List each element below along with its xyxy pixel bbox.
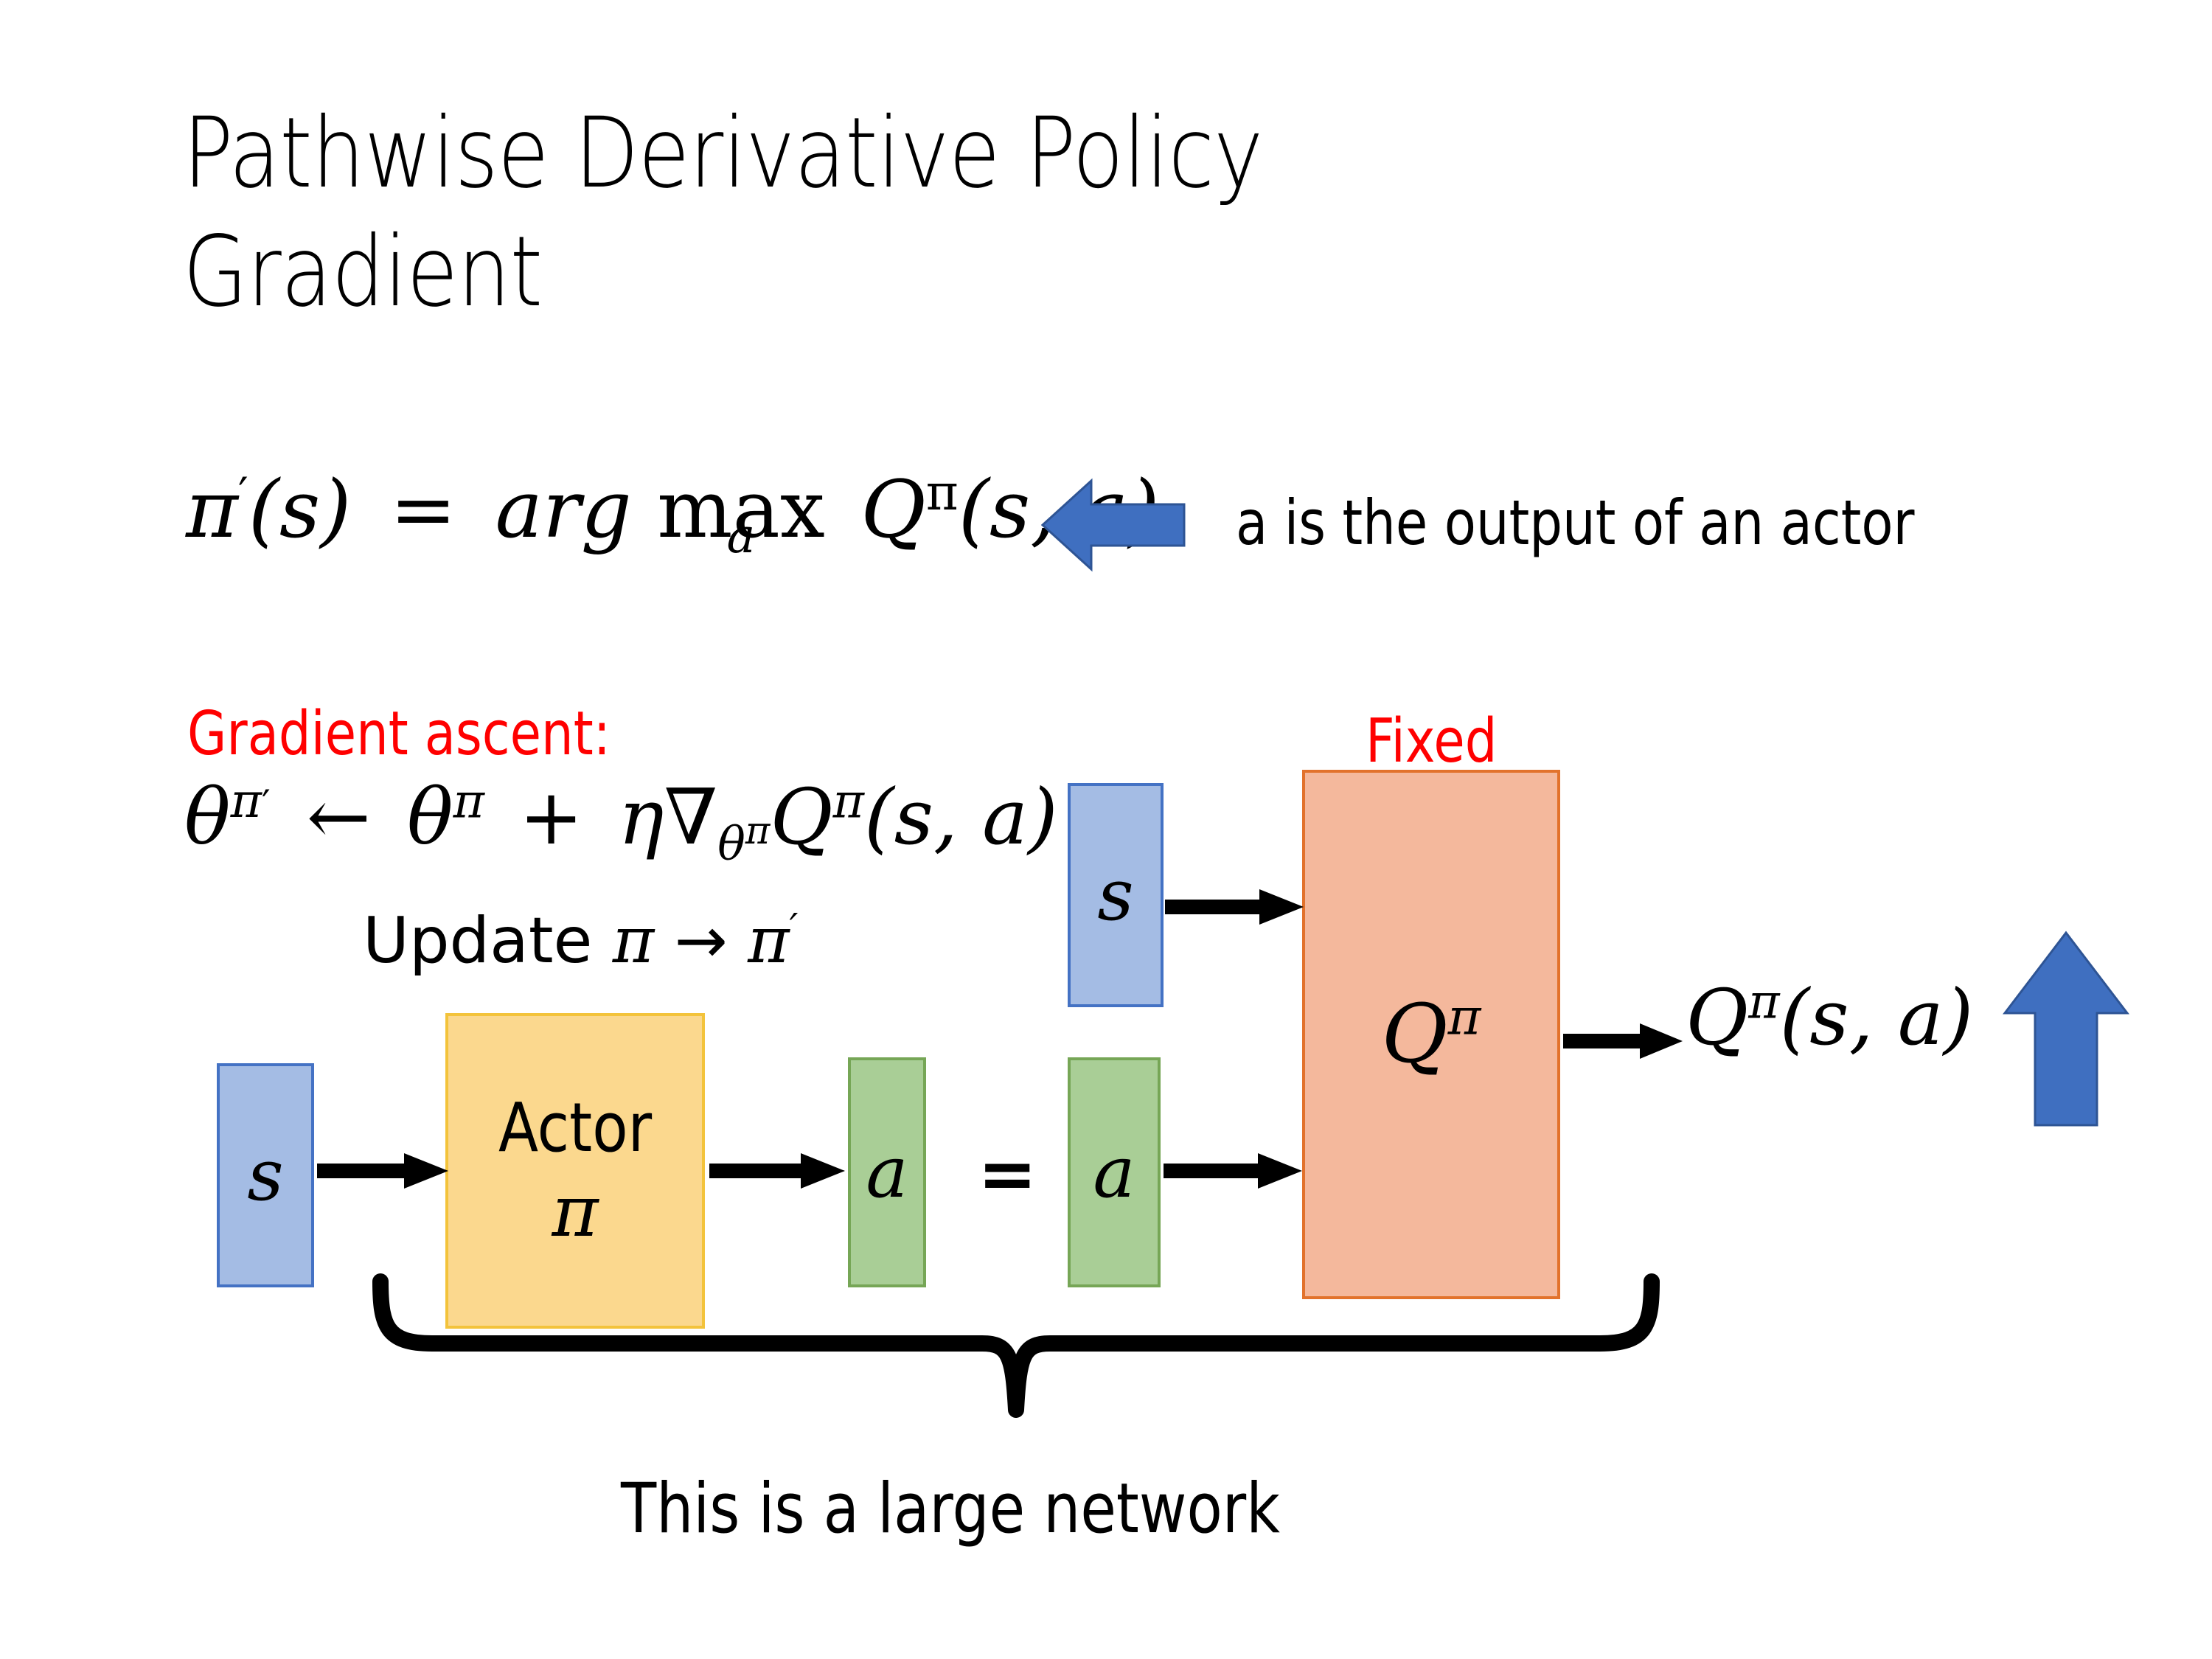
actor-box-label: Actor xyxy=(498,1093,652,1164)
update-policy-label: Update π → π′ xyxy=(363,904,798,978)
formula-update-theta: θ xyxy=(184,772,231,862)
arrow-state-to-actor xyxy=(317,1152,450,1190)
arrow-critic-to-output xyxy=(1563,1022,1684,1060)
action-box-right-label: a xyxy=(1093,1135,1135,1210)
formula-update-nabla-sub-pi: π xyxy=(745,810,771,853)
formula-argmax-equals: = xyxy=(377,464,470,556)
arrow-actor-to-action xyxy=(709,1152,846,1190)
formula-argmax-prime: ′ xyxy=(238,469,248,521)
formula-argmax-open: ( xyxy=(248,464,279,556)
formula-argmax-max-subscript: a xyxy=(727,513,756,561)
arrow-state-to-critic xyxy=(1165,888,1305,926)
formula-update-nabla-sub-theta: θ xyxy=(717,817,745,871)
formula-argmax-pi: π xyxy=(186,464,238,556)
formula-update-nabla: ∇ xyxy=(664,772,718,862)
page-title: Pathwise Derivative Policy Gradient xyxy=(183,94,1514,332)
update-policy-to: π xyxy=(748,904,790,978)
action-box-right: a xyxy=(1068,1057,1161,1287)
formula-argmax-s: s xyxy=(279,464,320,556)
state-box-top-label: s xyxy=(1097,858,1133,933)
critic-box-label-Q: Q xyxy=(1381,987,1447,1081)
critic-output-label: Qπ(s, a) xyxy=(1686,979,1973,1056)
formula-argmax-close: ) xyxy=(320,464,351,556)
critic-output-exponent: π xyxy=(1748,974,1779,1029)
state-box-bottom: s xyxy=(217,1063,314,1287)
update-policy-arrow: → xyxy=(654,904,748,978)
critic-box: Qπ xyxy=(1302,770,1560,1299)
critic-output-args: (s, a) xyxy=(1780,973,1974,1062)
formula-update-args: (s, a) xyxy=(864,772,1058,862)
formula-update-nabla-subscript: θπ xyxy=(717,817,770,871)
critic-box-label: Qπ xyxy=(1381,992,1481,1077)
formula-update-theta-exponent-pi: π xyxy=(231,773,262,829)
update-policy-prefix: Update xyxy=(363,904,613,978)
formula-argmax: π′(s) = arg max a Qπ(s, a) xyxy=(186,470,1160,550)
formula-gradient-update: θπ′ ← θπ + η∇θπQπ(s, a) xyxy=(184,779,1058,855)
formula-update-theta2-exponent: π xyxy=(453,773,484,829)
actor-box-sublabel: π xyxy=(552,1175,598,1249)
gradient-ascent-label: Gradient ascent: xyxy=(187,699,611,769)
formula-update-plus: + xyxy=(509,772,594,862)
grouping-brace xyxy=(369,1273,1663,1427)
formula-argmax-Q-exponent: π xyxy=(926,464,959,521)
formula-update-Q: Q xyxy=(770,772,832,862)
critic-box-label-exponent: π xyxy=(1448,989,1481,1047)
formula-update-Q-exponent: π xyxy=(833,773,864,829)
large-network-caption: This is a large network xyxy=(621,1469,1280,1549)
update-policy-from: π xyxy=(613,904,655,978)
formula-update-leftarrow: ← xyxy=(295,772,383,862)
slide-canvas: Pathwise Derivative Policy Gradient π′(s… xyxy=(0,0,2212,1659)
formula-update-theta2: θ xyxy=(407,772,453,862)
actor-output-note: a is the output of an actor xyxy=(1236,487,1915,559)
up-arrow-icon xyxy=(2003,931,2129,1128)
update-policy-to-prime: ′ xyxy=(790,905,799,950)
action-box-left: a xyxy=(848,1057,926,1287)
action-box-left-label: a xyxy=(866,1135,908,1210)
formula-update-theta-exponent: π′ xyxy=(231,773,271,829)
state-box-bottom-label: s xyxy=(247,1138,283,1213)
arrow-action-to-critic xyxy=(1164,1152,1304,1190)
fixed-label: Fixed xyxy=(1366,706,1498,776)
equals-sign: = xyxy=(978,1133,1037,1215)
state-box-top: s xyxy=(1068,783,1164,1007)
formula-argmax-maxgroup: max a xyxy=(657,470,825,550)
formula-argmax-Q: Q xyxy=(850,464,926,556)
formula-update-theta-exponent-prime: ′ xyxy=(262,782,271,827)
formula-argmax-arg: arg xyxy=(495,464,632,556)
critic-output-Q: Q xyxy=(1686,973,1748,1062)
left-arrow-icon xyxy=(1041,478,1186,572)
formula-update-eta: η xyxy=(618,772,664,862)
